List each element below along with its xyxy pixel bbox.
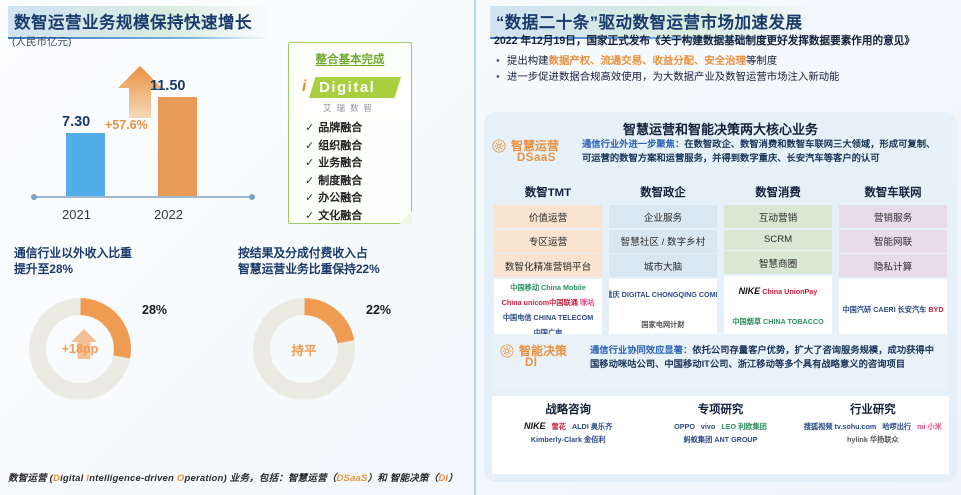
- list-item-label: 文化融合: [318, 210, 362, 222]
- policy-bullet-list: 提出构建数据产权、流通交易、收益分配、安全治理等制度 进一步促进数据合规高效使用…: [494, 54, 946, 86]
- bullet-post: 等制度: [746, 56, 777, 67]
- di-logo-group-strategy: NIKE 雪花 ALDI 奥乐齐 Kimberly-Clark 金佰利: [492, 422, 644, 444]
- donut-block-1: 通信行业以外收入比重 提升至28% +18pp 28%: [14, 245, 214, 415]
- note-title: 整合基本完成: [289, 51, 411, 67]
- dsaas-badge-sub: DSaaS: [517, 152, 556, 164]
- di-logo-group-special: OPPO vivo LEO 利欧集团 蚂蚁集团 ANT GROUP: [644, 422, 796, 444]
- donut-block-2: 按结果及分成付费收入占 智慧运营业务比重保持22% 持平 22%: [238, 245, 438, 415]
- chart-axis-line: [34, 196, 252, 198]
- chart-unit-label: (人民币亿元): [12, 34, 72, 49]
- di-header-special: 专项研究: [644, 401, 796, 417]
- list-item: 提出构建数据产权、流通交易、收益分配、安全治理等制度: [494, 54, 946, 70]
- chip[interactable]: 专区运营: [494, 230, 602, 253]
- list-item: ✓文化融合: [305, 208, 411, 226]
- logo-kimberly-clark: Kimberly-Clark 金佰利: [531, 435, 606, 444]
- bar-category-2021: 2021: [62, 207, 91, 222]
- footnote-dsaas: DSaaS: [336, 473, 367, 484]
- logo-state-grid: 国家电网计财: [641, 320, 684, 329]
- check-icon: ✓: [305, 192, 314, 204]
- column-header: 数智消费: [724, 184, 832, 200]
- di-desc-lead: 通信行业协同效应显著：: [590, 345, 692, 355]
- footnote-di: DI: [438, 473, 448, 484]
- dsaas-description: 通信行业外进一步聚焦：在数智政企、数智消费和数智车联网三大领域，形成可复制、可运…: [582, 137, 942, 165]
- logo-migu: 咪咕: [580, 298, 594, 307]
- footnote-p6: ）: [448, 473, 458, 484]
- column-header: 数智车联网: [839, 184, 947, 200]
- footnote-p4: peration) 业务，包括：智慧运营（: [184, 473, 336, 484]
- logo-nike: NIKE: [524, 422, 546, 431]
- logo-unionpay: China UnionPay: [762, 287, 817, 296]
- donut-1-heading: 通信行业以外收入比重 提升至28%: [14, 245, 214, 277]
- check-icon: ✓: [305, 157, 314, 169]
- logo-china-mobile: 中国移动 China Mobile: [510, 283, 585, 292]
- chip[interactable]: 企业服务: [609, 205, 717, 228]
- footnote: 数智运营 (Digital Intelligence-driven Operat…: [8, 470, 458, 484]
- left-panel: 数智运营业务规模保持快速增长 (人民币亿元) +57.6% 7.30 11.50…: [0, 0, 474, 495]
- idigital-chinese-name: 艾瑞数智: [295, 102, 405, 114]
- footnote-p1: 数智运营 (: [8, 473, 53, 484]
- column-automotive: 数智车联网 营销服务 智能网联 隐私计算 中国汽研 CAERI 长安汽车 BYD: [839, 184, 947, 341]
- right-body: 2022 年12月19日，国家正式发布《关于构建数据基础制度更好发挥数据要素作用…: [494, 34, 946, 86]
- logo-xiaomi: mi 小米: [917, 422, 942, 431]
- logo-vivo: vivo: [701, 422, 715, 431]
- di-badge-sub: DI: [525, 357, 538, 369]
- logo-digital-chongqing: 数字重庆 DIGITAL CHONGQING COMPANY: [609, 290, 717, 299]
- di-header-strategy: 战略咨询: [492, 401, 644, 417]
- footnote-p3: ntelligence-driven: [89, 473, 177, 484]
- chip[interactable]: SCRM: [724, 230, 832, 250]
- di-header-industry: 行业研究: [797, 401, 949, 417]
- bar-2021: [66, 133, 105, 196]
- logo-aldi: ALDI 奥乐齐: [572, 422, 612, 431]
- logo-strip: NIKE China UnionPay 中国烟草 CHINA TOBACCO: [724, 276, 832, 338]
- chip[interactable]: 营销服务: [839, 205, 947, 228]
- dsaas-columns: 数智TMT 价值运营 专区运营 数智化精准营销平台 中国移动 China Mob…: [494, 184, 947, 341]
- bar-category-2022: 2022: [154, 207, 183, 222]
- idigital-logo: i Digital 艾瑞数智: [295, 72, 405, 116]
- list-item-label: 业务融合: [318, 157, 362, 169]
- chip[interactable]: 城市大脑: [609, 254, 717, 277]
- integration-list: ✓品牌融合 ✓组织融合 ✓业务融合 ✓制度融合 ✓办公融合 ✓文化融合: [289, 120, 411, 225]
- column-consumer: 数智消费 互动营销 SCRM 智慧商圈 NIKE China UnionPay …: [724, 184, 832, 341]
- panel-divider: [474, 0, 476, 495]
- logo-china-telecom: 中国电信 CHINA TELECOM: [503, 313, 593, 322]
- logo-byd: BYD: [928, 305, 943, 314]
- chip[interactable]: 智能网联: [839, 230, 947, 253]
- right-section-title: “数据二十条”驱动数智运营市场加速发展: [490, 6, 821, 37]
- list-item-label: 办公融合: [318, 192, 362, 204]
- bullet-pre: 提出构建: [507, 56, 549, 67]
- chip[interactable]: 智慧商圈: [724, 251, 832, 274]
- donut-1-center: +18pp: [24, 293, 136, 405]
- check-icon: ✓: [305, 210, 314, 222]
- chip[interactable]: 数智化精准营销平台: [494, 254, 602, 277]
- donut-2-center-label: 持平: [291, 340, 316, 359]
- logo-sohu-video: 搜狐视频 tv.sohu.com: [804, 422, 877, 431]
- bar-value-2022: 11.50: [150, 78, 186, 94]
- logo-china-unicom: China unicom中国联通: [502, 298, 578, 307]
- logo-china-tobacco: 中国烟草 CHINA TOBACCO: [732, 317, 823, 326]
- di-headers: 战略咨询 专项研究 行业研究: [492, 401, 949, 417]
- logo-snow-beer: 雪花: [552, 422, 566, 431]
- logo-changan: 长安汽车: [898, 305, 927, 314]
- core-business-panel: 智慧运营和智能决策两大核心业务 智慧运营 DSaaS 通信行业外进一步聚焦：在数…: [484, 112, 957, 482]
- logo-hellobike: 哈啰出行: [882, 422, 911, 431]
- logo-strip: 中国移动 China Mobile China unicom中国联通 咪咕 中国…: [494, 279, 602, 341]
- idigital-wordmark: Digital: [319, 79, 375, 96]
- column-tmt: 数智TMT 价值运营 专区运营 数智化精准营销平台 中国移动 China Mob…: [494, 184, 602, 341]
- list-item: ✓办公融合: [305, 190, 411, 208]
- list-item: ✓制度融合: [305, 173, 411, 191]
- idigital-i-mark: i: [302, 78, 306, 96]
- footnote-p2: igital: [60, 473, 86, 484]
- list-item: ✓组织融合: [305, 138, 411, 156]
- logo-oppo: OPPO: [674, 422, 695, 431]
- di-logo-group-industry: 搜狐视频 tv.sohu.com 哈啰出行 mi 小米 hylink 华扬联众: [797, 422, 949, 444]
- donut-2-heading: 按结果及分成付费收入占 智慧运营业务比重保持22%: [238, 245, 438, 277]
- slide-root: 数智运营业务规模保持快速增长 (人民币亿元) +57.6% 7.30 11.50…: [0, 0, 961, 495]
- di-logo-bar: 战略咨询 专项研究 行业研究 NIKE 雪花 ALDI 奥乐齐 Kimberly…: [492, 396, 949, 474]
- policy-lead-text: 2022 年12月19日，国家正式发布《关于构建数据基础制度更好发挥数据要素作用…: [494, 34, 946, 49]
- list-item: 进一步促进数据合规高效使用，为大数据产业及数智运营市场注入新动能: [494, 70, 946, 86]
- list-item-label: 品牌融合: [318, 122, 362, 134]
- list-item: ✓业务融合: [305, 155, 411, 173]
- column-government: 数智政企 企业服务 智慧社区 / 数字乡村 城市大脑 数字重庆 DIGITAL …: [609, 184, 717, 341]
- right-title-wrap: “数据二十条”驱动数智运营市场加速发展: [490, 6, 821, 37]
- bullet-pre: 进一步促进数据合规高效使用，为大数据产业及数智运营市场注入新动能: [507, 72, 840, 83]
- list-item-label: 制度融合: [318, 175, 362, 187]
- di-description-box: 智能决策 DI 通信行业协同效应显著：依托公司存量客户优势，扩大了咨询服务规模，…: [492, 334, 949, 390]
- chip[interactable]: 智慧社区 / 数字乡村: [609, 230, 717, 253]
- growth-rate-label: +57.6%: [105, 118, 148, 132]
- check-icon: ✓: [305, 175, 314, 187]
- panel-title: 智慧运营和智能决策两大核心业务: [484, 112, 957, 138]
- logo-leo-group: LEO 利欧集团: [721, 422, 767, 431]
- donut-1-pct-label: 28%: [142, 303, 167, 317]
- bar-2022: [158, 97, 197, 196]
- logo-nike: NIKE: [739, 287, 761, 296]
- gear-icon: [500, 344, 514, 358]
- di-logo-groups: NIKE 雪花 ALDI 奥乐齐 Kimberly-Clark 金佰利 OPPO…: [492, 422, 949, 444]
- list-item: ✓品牌融合: [305, 120, 411, 138]
- donut-2-center: 持平: [248, 293, 360, 405]
- column-header: 数智TMT: [494, 184, 602, 200]
- logo-caeri: 中国汽研 CAERI: [842, 305, 895, 314]
- bar-chart: +57.6% 7.30 11.50 2021 2022: [22, 58, 272, 230]
- bullet-highlight: 数据产权、流通交易、收益分配、安全治理: [549, 56, 746, 67]
- donut-1-center-label: +18pp: [62, 342, 98, 356]
- check-icon: ✓: [305, 140, 314, 152]
- logo-ant-group: 蚂蚁集团 ANT GROUP: [684, 435, 758, 444]
- left-section-title: 数智运营业务规模保持快速增长: [8, 6, 270, 37]
- integration-note-card: 整合基本完成 i Digital 艾瑞数智 ✓品牌融合 ✓组织融合 ✓业务融合 …: [288, 42, 412, 224]
- bar-value-2021: 7.30: [62, 114, 90, 130]
- check-icon: ✓: [305, 122, 314, 134]
- left-title-wrap: 数智运营业务规模保持快速增长: [8, 6, 270, 37]
- footnote-p5: ）和 智能决策（: [368, 473, 439, 484]
- dsaas-desc-lead: 通信行业外进一步聚焦：: [582, 139, 684, 149]
- di-description: 通信行业协同效应显著：依托公司存量客户优势，扩大了咨询服务规模，成功获得中国移动…: [590, 343, 940, 371]
- chip[interactable]: 互动营销: [724, 205, 832, 228]
- chip[interactable]: 隐私计算: [839, 254, 947, 277]
- logo-hylink: hylink 华扬联众: [847, 435, 899, 444]
- logo-strip: 数字重庆 DIGITAL CHONGQING COMPANY 国家电网计财: [609, 279, 717, 341]
- logo-strip: 中国汽研 CAERI 长安汽车 BYD: [839, 279, 947, 341]
- column-header: 数智政企: [609, 184, 717, 200]
- list-item-label: 组织融合: [318, 140, 362, 152]
- donut-2-pct-label: 22%: [366, 303, 391, 317]
- gear-icon: [492, 139, 506, 153]
- chip[interactable]: 价值运营: [494, 205, 602, 228]
